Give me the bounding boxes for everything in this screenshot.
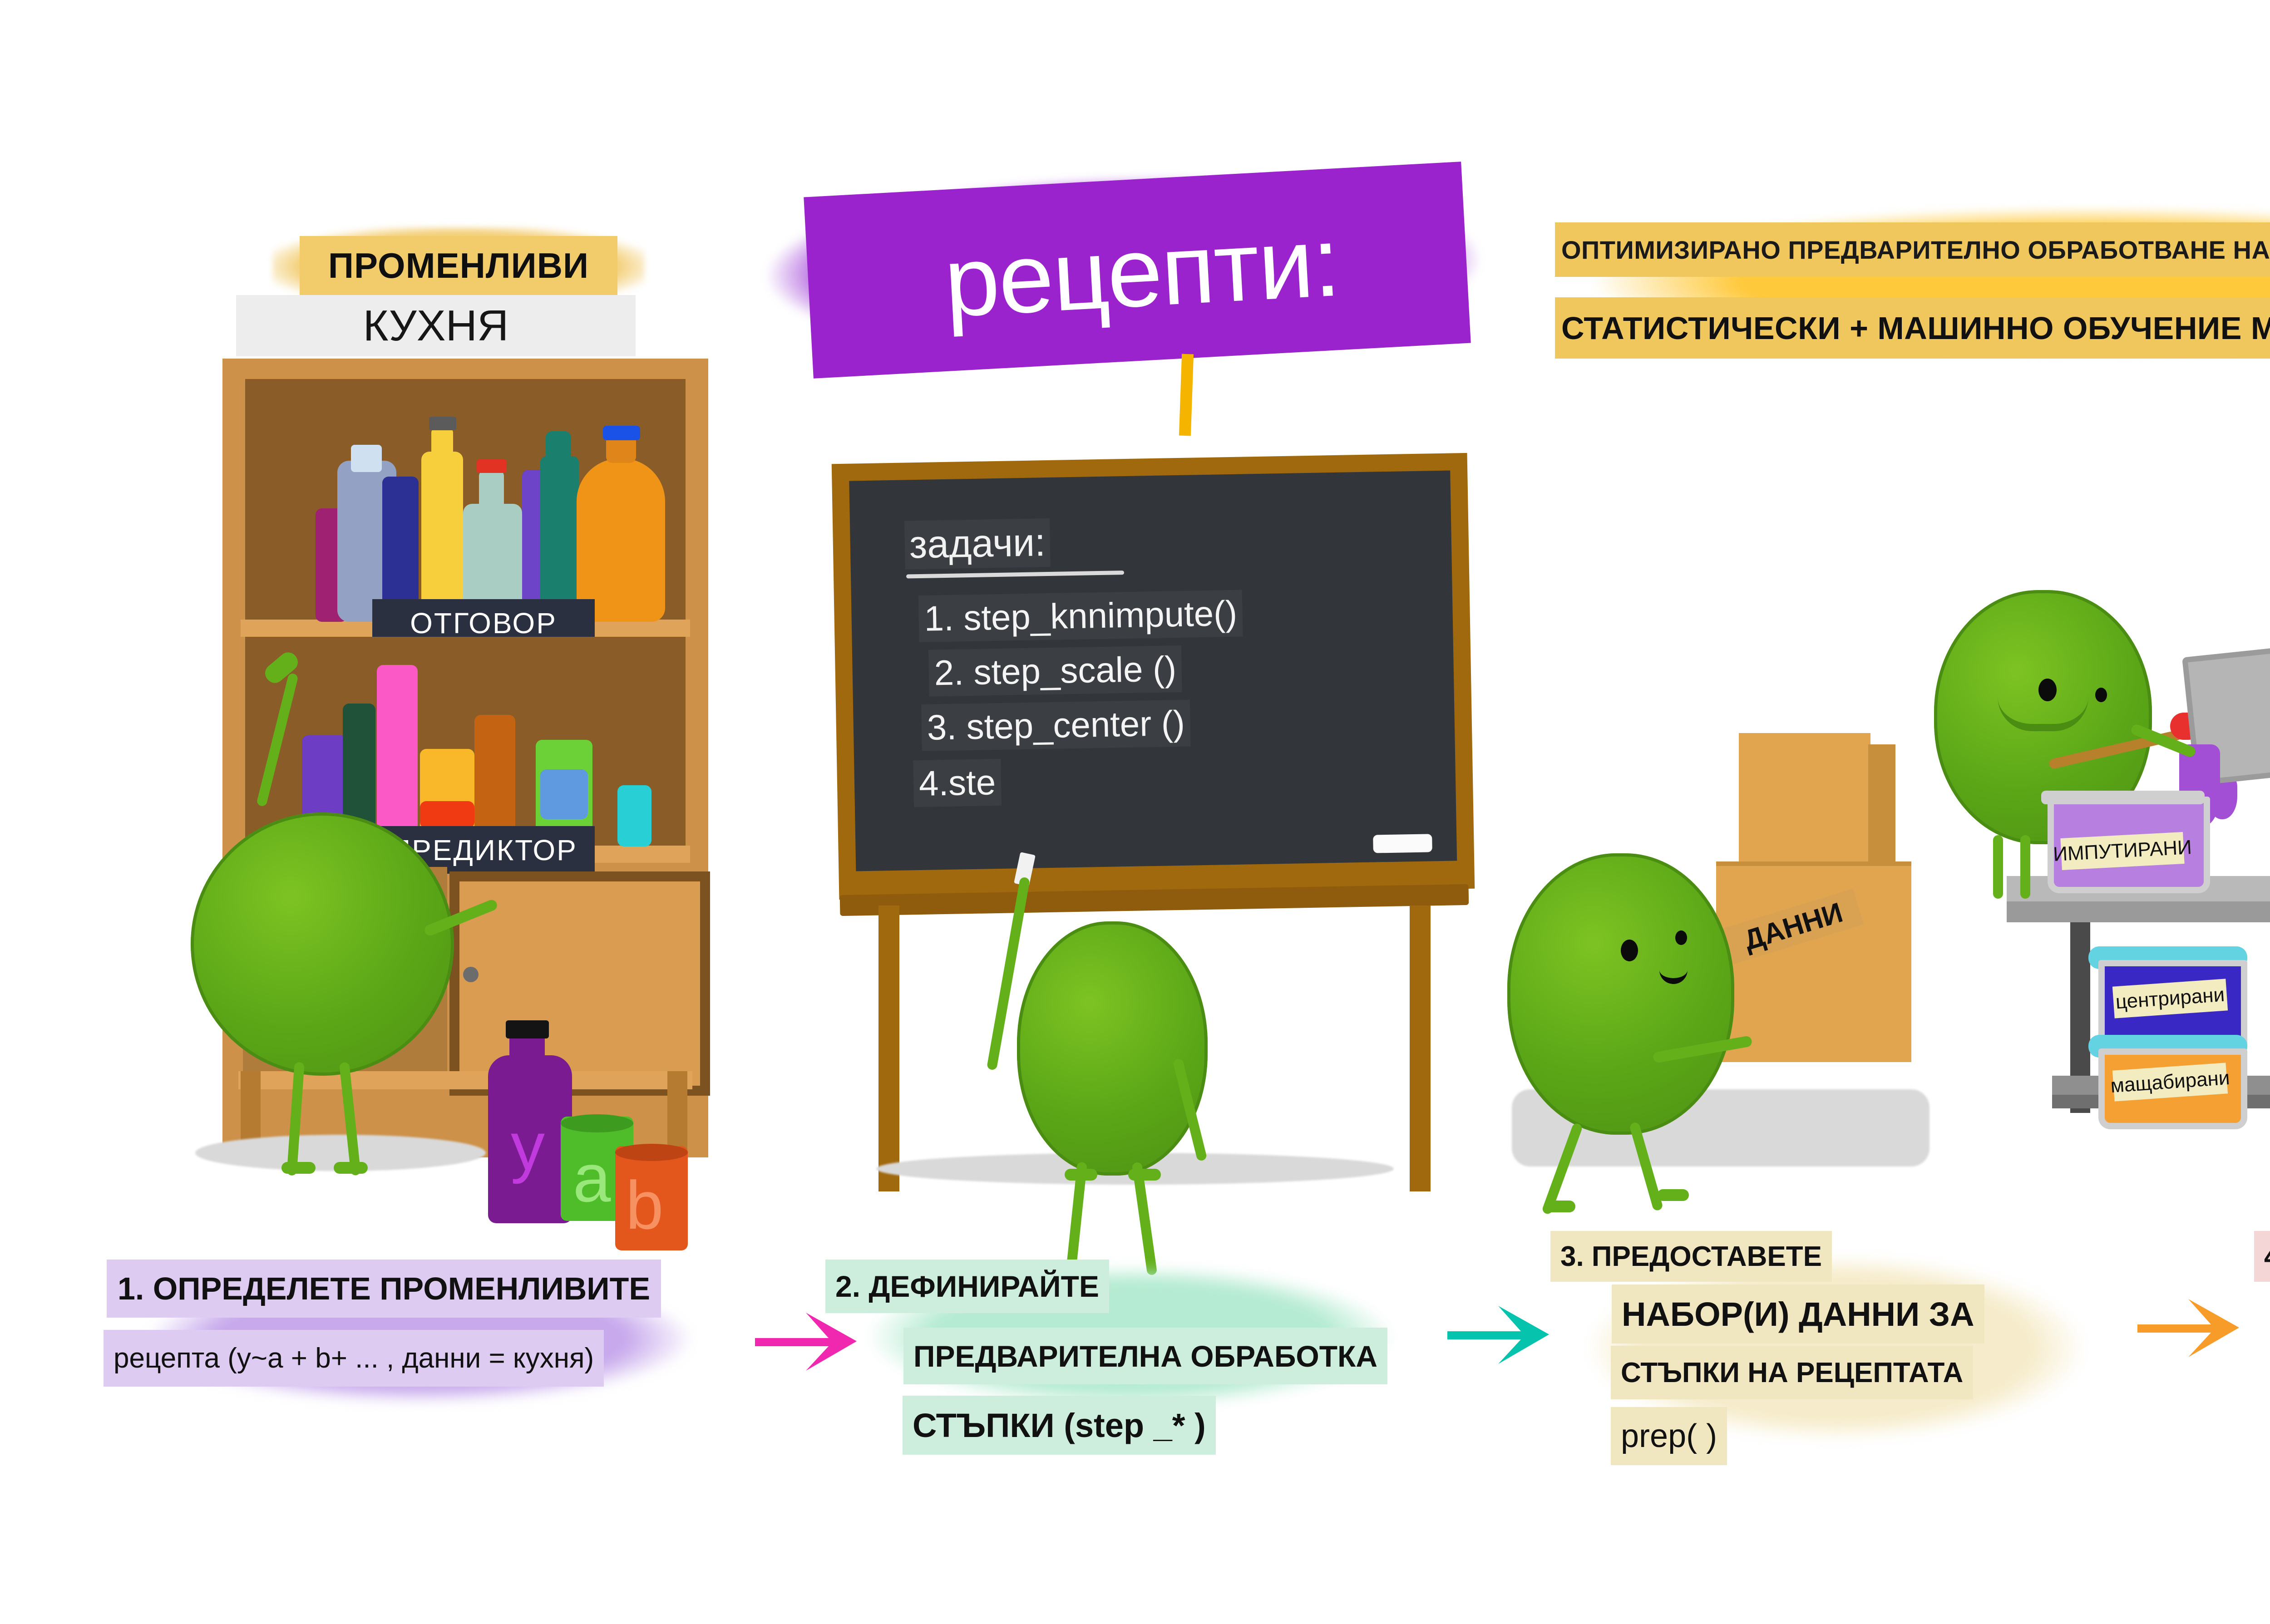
step-3-line-4-text: prep( ) xyxy=(1616,1417,1722,1455)
pointer-stick xyxy=(1179,354,1194,436)
can-cyan xyxy=(617,785,651,846)
blackboard-item-1-text: 1. step_knnimpute() xyxy=(918,590,1243,642)
monster-4-leg-left xyxy=(1993,835,2003,899)
step-3-line-3-text: СТЪПКИ НА РЕЦЕПТАТА xyxy=(1616,1357,1968,1389)
subtitle-line-1: ОПТИМИЗИРАНО ПРЕДВАРИТЕЛНО ОБРАБОТВАНЕ Н… xyxy=(1555,222,2270,277)
monster-1-body xyxy=(191,812,454,1076)
jar-y-letter: y xyxy=(511,1112,552,1185)
blackboard-item-3-text: 3. step_center () xyxy=(921,700,1191,751)
step-3-line-2: НАБОР(И) ДАННИ ЗА xyxy=(1612,1284,1984,1343)
blackboard-item-3: 3. step_center () xyxy=(921,700,1191,751)
step-3-arrow xyxy=(2134,1289,2243,1366)
jar-b-lid xyxy=(615,1144,688,1161)
kitchen-label: КУХНЯ xyxy=(236,295,636,356)
blackboard-title-text: задачи: xyxy=(904,518,1051,570)
step-3-line-1-text: 3. ПРЕДОСТАВЕТЕ xyxy=(1556,1240,1826,1273)
eraser[interactable] xyxy=(1373,834,1432,853)
monster-1-foot-left xyxy=(281,1162,316,1174)
cupboard-door-knob[interactable] xyxy=(463,967,479,982)
box-pink xyxy=(377,665,418,846)
page-title: рецепти: xyxy=(808,164,1475,381)
blackboard-title-underline xyxy=(906,571,1124,578)
blackboard-item-4: 4.ste xyxy=(913,759,1002,807)
container-centered-label-text: центрирани xyxy=(2115,984,2225,1014)
jar-y-cap xyxy=(506,1020,549,1038)
box-top xyxy=(1739,733,1870,865)
bottle-teal-vase xyxy=(540,456,579,622)
bottle-grey-blue-neck xyxy=(351,445,382,472)
step-2-line-3-text: СТЪПКИ (step _* ) xyxy=(908,1406,1210,1445)
step-2-line-2-text: ПРЕДВАРИТЕЛНА ОБРАБОТКА xyxy=(909,1339,1382,1373)
subtitle-line-2: СТАТИСТИЧЕСКИ + МАШИННО ОБУЧЕНИЕ МОДЕЛИ xyxy=(1555,297,2270,359)
step-3-line-1: 3. ПРЕДОСТАВЕТЕ xyxy=(1550,1231,1832,1282)
variables-label: ПРОМЕНЛИВИ xyxy=(300,236,617,295)
bottle-mint-neck xyxy=(479,470,504,511)
step-3-line-4: prep( ) xyxy=(1611,1407,1727,1465)
can-yellow-stripe xyxy=(420,801,474,828)
blackboard-item-4-text: 4.ste xyxy=(913,759,1002,807)
box-bottom xyxy=(1716,862,1911,1062)
step-3-line-2-text: НАБОР(И) ДАННИ ЗА xyxy=(1617,1295,1979,1334)
shelf-label-response-text: ОТГОВОР xyxy=(410,606,557,640)
blackboard-surface: задачи: 1. step_knnimpute() 2. step_scal… xyxy=(849,471,1457,871)
container-scaled-label-text: мащабирани xyxy=(2110,1067,2231,1097)
step-3-line-3: СТЪПКИ НА РЕЦЕПТАТА xyxy=(1611,1346,1973,1399)
bottle-orange-amphora xyxy=(577,458,665,622)
container-imputed-label-text: ИМПУТИРАНИ xyxy=(2053,836,2192,866)
step-1-line-1: 1. ОПРЕДЕЛЕТЕ ПРОМЕНЛИВИТЕ xyxy=(107,1260,661,1318)
monster-3-eye-left xyxy=(1621,940,1638,961)
monster-3-foot-right xyxy=(1657,1189,1689,1201)
variables-label-text: ПРОМЕНЛИВИ xyxy=(328,245,589,286)
blackboard-item-1: 1. step_knnimpute() xyxy=(918,590,1243,642)
monster-3-body xyxy=(1507,853,1734,1135)
step-4-line-1: 4. ПРИЛОЖЕТЕ xyxy=(2254,1231,2270,1282)
box-top-side xyxy=(1868,744,1895,865)
bottle-yellow-neck xyxy=(431,427,453,458)
can-green-label xyxy=(540,769,588,819)
step-4-line-1-text: 4. ПРИЛОЖЕТЕ xyxy=(2260,1241,2270,1272)
container-imputed-label: ИМПУТИРАНИ xyxy=(2060,832,2184,870)
bottle-mint-cap xyxy=(477,459,507,473)
subtitle-line-2-text: СТАТИСТИЧЕСКИ + МАШИННО ОБУЧЕНИЕ МОДЕЛИ xyxy=(1561,310,2270,346)
page-title-text: рецепти: xyxy=(942,205,1342,340)
blackboard-item-2: 2. step_scale () xyxy=(928,645,1182,697)
blackboard-leg-left xyxy=(878,906,899,1191)
monster-3-eye-right xyxy=(1675,930,1687,945)
monster-1-foot-right xyxy=(334,1162,368,1174)
bottle-teal-neck xyxy=(546,431,571,461)
step-2-line-1-text: 2. ДЕФИНИРАЙТЕ xyxy=(831,1269,1104,1304)
jar-a-lid xyxy=(561,1114,633,1132)
blackboard-item-2-text: 2. step_scale () xyxy=(928,645,1182,697)
worktable-top-edge xyxy=(2007,901,2270,922)
step-2-line-3: СТЪПКИ (step _* ) xyxy=(903,1396,1216,1455)
step-2-line-2: ПРЕДВАРИТЕЛНА ОБРАБОТКА xyxy=(903,1328,1387,1384)
monster-2-body xyxy=(1017,921,1208,1176)
box-bottom-edge xyxy=(1716,861,1911,866)
subtitle-line-1-text: ОПТИМИЗИРАНО ПРЕДВАРИТЕЛНО ОБРАБОТВАНЕ Н… xyxy=(1561,235,2270,265)
monster-2-foot-right xyxy=(1128,1169,1161,1181)
monster-3-foot-left xyxy=(1544,1201,1575,1212)
bottle-yellow-cap xyxy=(429,417,456,430)
step-1-line-1-text: 1. ОПРЕДЕЛЕТЕ ПРОМЕНЛИВИТЕ xyxy=(113,1270,655,1307)
step-1-line-2: рецепта (y~a + b+ ... , данни = кухня) xyxy=(104,1330,604,1387)
blackboard-frame: задачи: 1. step_knnimpute() 2. step_scal… xyxy=(832,453,1475,900)
step-1-line-2-text: рецепта (y~a + b+ ... , данни = кухня) xyxy=(109,1342,598,1374)
monster-4-leg-right xyxy=(2020,835,2030,899)
step-2-line-1: 2. ДЕФИНИРАЙТЕ xyxy=(825,1260,1109,1313)
bottle-yellow-oil xyxy=(421,452,463,622)
bottle-orange-cap xyxy=(603,426,640,440)
monster-2-foot-left xyxy=(1065,1169,1097,1181)
blackboard-title: задачи: xyxy=(904,518,1051,570)
kitchen-label-text: КУХНЯ xyxy=(363,301,509,351)
blackboard-leg-right xyxy=(1410,906,1431,1191)
container-imputed-rim xyxy=(2041,791,2205,804)
jar-b-letter: b xyxy=(626,1171,680,1239)
monster-4-eye-right xyxy=(2095,688,2107,702)
